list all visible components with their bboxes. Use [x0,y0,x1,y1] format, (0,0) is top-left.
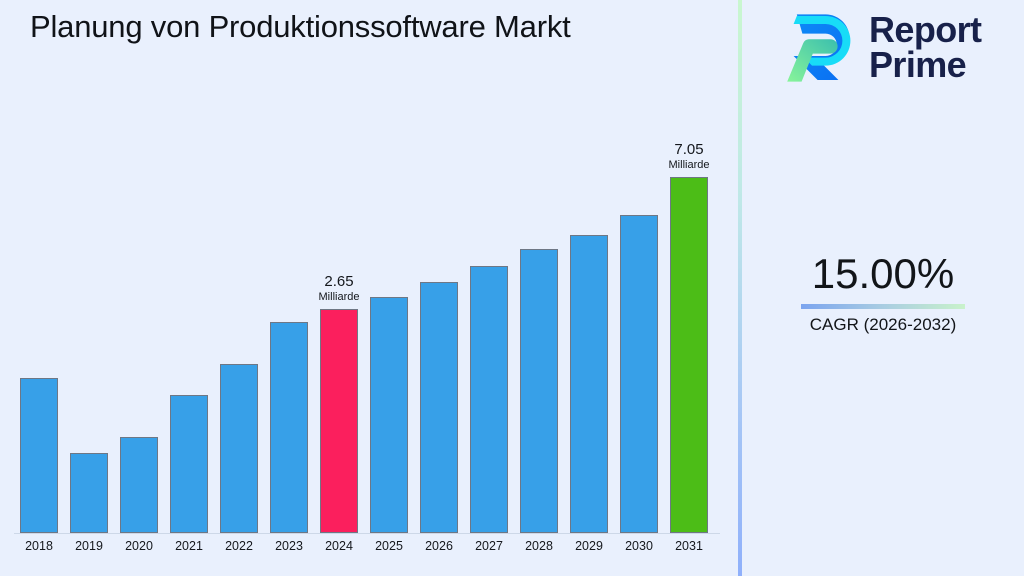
bar-rect-2023[interactable] [270,322,308,533]
brand-name-line2: Prime [869,48,981,83]
cagr-block: 15.00% CAGR (2026-2032) [742,252,1024,335]
brand-wordmark: Report Prime [869,13,981,83]
bar-rect-2020[interactable] [120,437,158,533]
x-tick-2020: 2020 [120,539,158,553]
bar-rect-2022[interactable] [220,364,258,533]
bar-2022[interactable] [220,364,258,533]
bar-2028[interactable] [520,249,558,533]
bar-2029[interactable] [570,235,608,533]
bar-2027[interactable] [470,266,508,533]
bar-2026[interactable] [420,282,458,533]
x-tick-2024: 2024 [320,539,358,553]
x-tick-2026: 2026 [420,539,458,553]
x-tick-2025: 2025 [370,539,408,553]
bar-2019[interactable] [70,453,108,533]
x-tick-2022: 2022 [220,539,258,553]
chart-panel: Planung von Produktionssoftware Markt 2.… [0,0,738,576]
bar-2030[interactable] [620,215,658,533]
bar-2025[interactable] [370,297,408,533]
bar-rect-2024[interactable] [320,309,358,533]
x-tick-2021: 2021 [170,539,208,553]
bar-value-2031: 7.05 [638,142,740,159]
bar-2021[interactable] [170,395,208,533]
bar-rect-2026[interactable] [420,282,458,533]
x-tick-2029: 2029 [570,539,608,553]
x-tick-2027: 2027 [470,539,508,553]
infographic-root: Planung von Produktionssoftware Markt 2.… [0,0,1024,576]
x-tick-2019: 2019 [70,539,108,553]
brand-logo: Report Prime [775,8,981,88]
bar-2020[interactable] [120,437,158,533]
bar-rect-2018[interactable] [20,378,58,533]
bar-rect-2031[interactable] [670,177,708,533]
x-tick-2018: 2018 [20,539,58,553]
cagr-divider-rule [801,304,965,309]
bar-rect-2025[interactable] [370,297,408,533]
bar-2023[interactable] [270,322,308,533]
x-tick-2031: 2031 [670,539,708,553]
bar-unit-2031: Milliarde [638,159,740,171]
bar-rect-2028[interactable] [520,249,558,533]
bar-value-2024: 2.65 [288,274,390,291]
bar-2031[interactable]: 7.05Milliarde [670,177,708,533]
bar-rect-2029[interactable] [570,235,608,533]
bar-rect-2027[interactable] [470,266,508,533]
x-tick-2028: 2028 [520,539,558,553]
bar-label-2031: 7.05Milliarde [638,142,740,171]
bar-rect-2021[interactable] [170,395,208,533]
bar-chart: 2.65Milliarde7.05Milliarde 2018201920202… [0,0,738,576]
x-tick-2023: 2023 [270,539,308,553]
cagr-value: 15.00% [742,252,1024,296]
bar-rect-2030[interactable] [620,215,658,533]
summary-panel: Report Prime 15.00% CAGR (2026-2032) [742,0,1024,576]
x-axis-line [14,533,720,534]
cagr-caption: CAGR (2026-2032) [742,315,1024,335]
bar-2018[interactable] [20,378,58,533]
bar-2024[interactable]: 2.65Milliarde [320,309,358,533]
brand-name-line1: Report [869,13,981,48]
bar-rect-2019[interactable] [70,453,108,533]
x-tick-2030: 2030 [620,539,658,553]
report-prime-r-monogram-icon [775,8,857,88]
